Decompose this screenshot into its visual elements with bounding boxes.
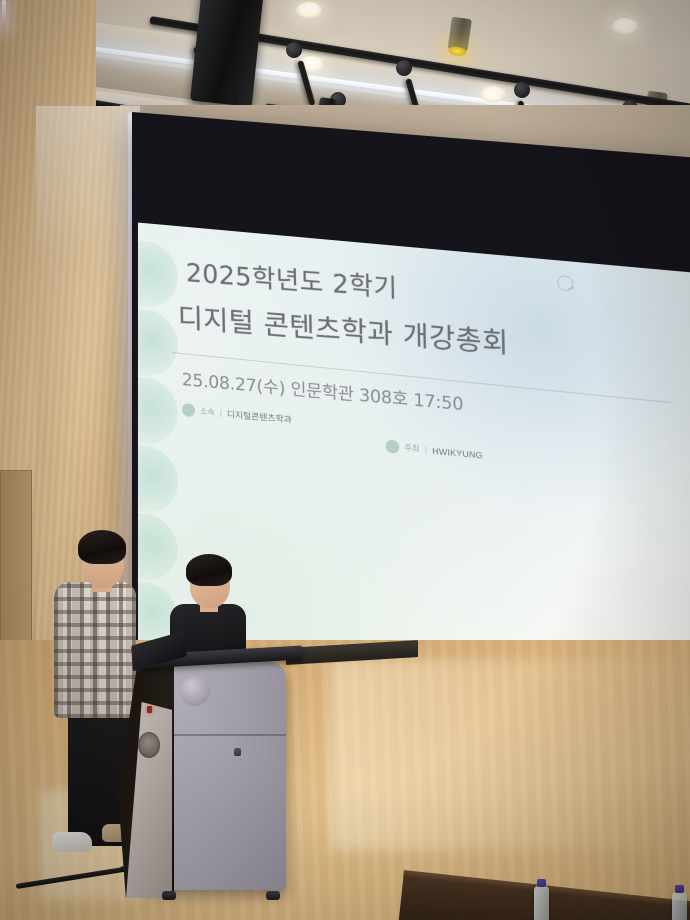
bottle-cap [675, 885, 684, 893]
logo-ring-icon [557, 275, 573, 292]
person-left-hair [78, 530, 126, 564]
meta-value: HWIKYUNG [432, 445, 483, 460]
podium-speaker-grille [138, 732, 160, 758]
podium-indicator-led [147, 706, 152, 713]
meta-item-host: 주최 | HWIKYUNG [386, 439, 483, 461]
podium-caster [162, 891, 176, 900]
slide-logo [557, 275, 578, 292]
podium-caster [266, 891, 280, 900]
auditorium-photo: 2025학년도 2학기 디지털 콘텐츠학과 개강총회 25.08.27(수) 인… [0, 0, 690, 920]
meta-key: 소속 [200, 406, 215, 418]
bullet-dot-icon [182, 403, 195, 417]
podium-knob[interactable] [180, 676, 210, 706]
lectern-podium[interactable] [118, 628, 298, 896]
bullet-dot-icon [386, 439, 400, 454]
slide-title-line1: 2025학년도 2학기 [186, 253, 399, 305]
meta-value: 디지털콘텐츠학과 [227, 407, 292, 425]
meta-key: 주최 [404, 442, 419, 455]
accent-led-strip [2, 0, 6, 30]
water-bottle[interactable] [534, 886, 549, 920]
podium-lock[interactable] [234, 748, 241, 756]
meta-separator: | [220, 408, 222, 417]
meta-separator: | [425, 445, 427, 454]
person-right-hair [186, 554, 232, 586]
water-bottle[interactable] [672, 892, 687, 920]
meta-item-affiliation: 소속 | 디지털콘텐츠학과 [182, 403, 292, 426]
line-array-speaker [190, 0, 264, 107]
person-left-shoe [52, 832, 92, 852]
bottle-cap [537, 879, 546, 887]
slide-title-line2: 디지털 콘텐츠학과 개강총회 [177, 295, 509, 361]
